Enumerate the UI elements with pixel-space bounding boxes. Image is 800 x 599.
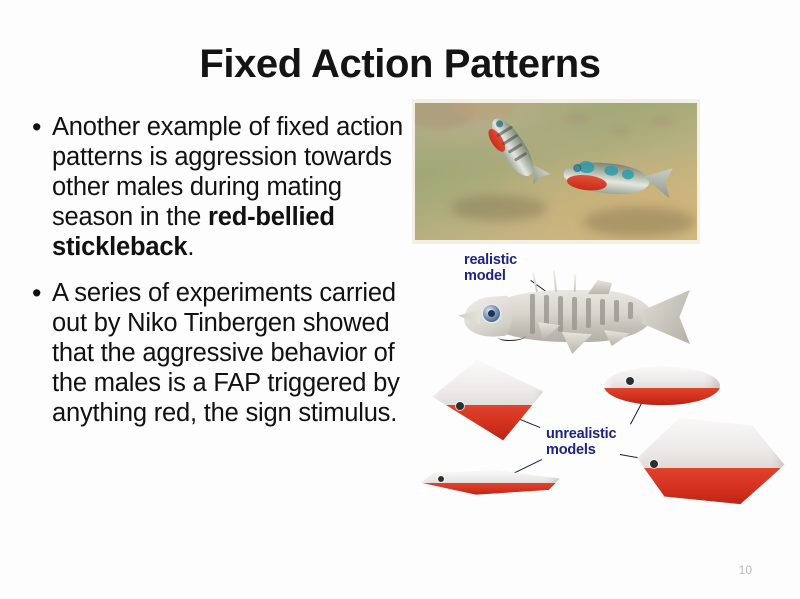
list-item: • A series of experiments carried out by… [32, 278, 417, 428]
bullet-text: Another example of fixed action patterns… [52, 112, 417, 262]
photo-rock [651, 117, 673, 126]
photo-image [415, 103, 697, 240]
unrealistic-model-egg [634, 412, 786, 508]
label-realistic-line1: realistic [464, 252, 517, 268]
model-eye-icon [438, 476, 444, 482]
bullet-list: • Another example of fixed action patter… [32, 112, 417, 444]
model-eye-icon [626, 377, 634, 385]
label-unrealistic-line1: unrealistic [546, 426, 616, 442]
unrealistic-model-lens [604, 364, 720, 406]
model-eye-icon [650, 460, 658, 468]
stickleback-photograph [412, 99, 700, 244]
photo-fish-lower [555, 150, 692, 216]
photo-rock [565, 113, 589, 123]
bullet-text-tail: . [187, 233, 194, 261]
slide-canvas: Fixed Action Patterns • Another example … [0, 0, 800, 599]
stickleback-model-diagram: realistic model [408, 248, 800, 548]
unrealistic-model-cigar [420, 468, 560, 496]
unrealistic-model-diamond [430, 358, 548, 442]
page-number: 10 [739, 563, 752, 577]
photo-rock [611, 127, 629, 135]
list-item: • Another example of fixed action patter… [32, 112, 417, 262]
bullet-marker: • [32, 278, 52, 308]
bullet-text: A series of experiments carried out by N… [52, 278, 417, 428]
label-unrealistic-models: unrealistic models [546, 426, 616, 458]
page-title: Fixed Action Patterns [0, 44, 800, 84]
label-unrealistic-line2: models [546, 442, 616, 458]
realistic-stickleback-model [456, 270, 706, 362]
bullet-marker: • [32, 112, 52, 142]
model-eye-icon [456, 402, 464, 410]
bullet-text-plain: A series of experiments carried out by N… [52, 279, 400, 427]
